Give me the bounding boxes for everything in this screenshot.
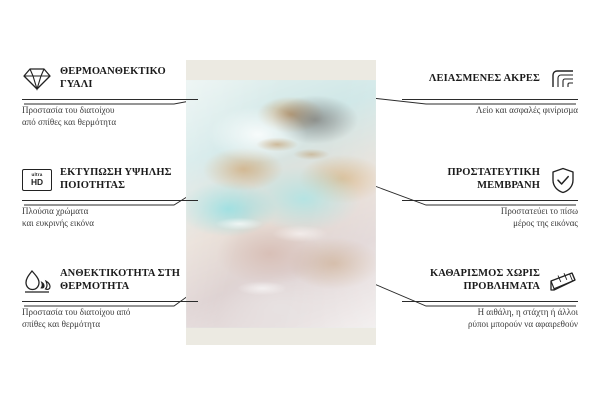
product-bottom-band bbox=[186, 328, 376, 345]
divider bbox=[402, 200, 578, 201]
feature-header: ΚΑΘΑΡΙΣΜΟΣ ΧΩΡΙΣ ΠΡΟΒΛΗΜΑΤΑ bbox=[402, 266, 578, 296]
hd-main-label: HD bbox=[31, 178, 43, 186]
sponge-icon bbox=[548, 266, 578, 296]
divider bbox=[22, 301, 198, 302]
feature-header: ΛΕΙΑΣΜΕΝΕΣ ΑΚΡΕΣ bbox=[402, 64, 578, 94]
feature-title: ΛΕΙΑΣΜΕΝΕΣ ΑΚΡΕΣ bbox=[402, 73, 540, 86]
feature-heat-resistance: ΑΝΘΕΚΤΙΚΟΤΗΤΑ ΣΤΗ ΘΕΡΜΟΤΗΤΑ Προστασία το… bbox=[22, 266, 198, 330]
feature-header: ultra HD ΕΚΤΥΠΩΣΗ ΥΨΗΛΗΣ ΠΟΙΟΤΗΤΑΣ bbox=[22, 165, 198, 195]
product-top-band bbox=[186, 60, 376, 80]
feature-title: ΑΝΘΕΚΤΙΚΟΤΗΤΑ ΣΤΗ ΘΕΡΜΟΤΗΤΑ bbox=[60, 268, 198, 294]
feature-desc-line1: Η αιθάλη, η στάχτη ή άλλοι bbox=[402, 306, 578, 318]
feature-smooth-edges: ΛΕΙΑΣΜΕΝΕΣ ΑΚΡΕΣ Λείο και ασφαλές φινίρι… bbox=[402, 64, 578, 116]
drop-heat-icon bbox=[22, 266, 52, 296]
feature-desc-line2: από σπίθες και θερμότητα bbox=[22, 116, 198, 128]
feature-desc-line1: Προστατεύει το πίσω bbox=[402, 205, 578, 217]
feature-desc-line1: Λείο και ασφαλές φινίρισμα bbox=[402, 104, 578, 116]
feature-thermal-glass: ΘΕΡΜΟΑΝΘΕΚΤΙΚΟ ΓΥΑΛΙ Προστασία του διατο… bbox=[22, 64, 198, 128]
divider bbox=[402, 99, 578, 100]
divider bbox=[22, 99, 198, 100]
divider bbox=[22, 200, 198, 201]
product-image bbox=[186, 60, 376, 345]
feature-desc-line2: σπίθες και θερμότητα bbox=[22, 318, 198, 330]
feature-desc-line2: και ευκρινής εικόνα bbox=[22, 217, 198, 229]
feature-desc-line2: μέρος της εικόνας bbox=[402, 217, 578, 229]
feature-title: ΚΑΘΑΡΙΣΜΟΣ ΧΩΡΙΣ ΠΡΟΒΛΗΜΑΤΑ bbox=[402, 268, 540, 294]
glass-sheen bbox=[186, 80, 376, 328]
feature-desc-line1: Προστασία του διατοίχου από bbox=[22, 306, 198, 318]
feature-header: ΠΡΟΣΤΑΤΕΥΤΙΚΗ ΜΕΜΒΡΑΝΗ bbox=[402, 165, 578, 195]
infographic-stage: ΘΕΡΜΟΑΝΘΕΚΤΙΚΟ ΓΥΑΛΙ Προστασία του διατο… bbox=[0, 0, 600, 400]
divider bbox=[402, 301, 578, 302]
feature-high-quality-print: ultra HD ΕΚΤΥΠΩΣΗ ΥΨΗΛΗΣ ΠΟΙΟΤΗΤΑΣ Πλούσ… bbox=[22, 165, 198, 229]
feature-title: ΠΡΟΣΤΑΤΕΥΤΙΚΗ ΜΕΜΒΡΑΝΗ bbox=[402, 167, 540, 193]
feature-title: ΕΚΤΥΠΩΣΗ ΥΨΗΛΗΣ ΠΟΙΟΤΗΤΑΣ bbox=[60, 167, 198, 193]
feature-header: ΑΝΘΕΚΤΙΚΟΤΗΤΑ ΣΤΗ ΘΕΡΜΟΤΗΤΑ bbox=[22, 266, 198, 296]
feature-easy-cleaning: ΚΑΘΑΡΙΣΜΟΣ ΧΩΡΙΣ ΠΡΟΒΛΗΜΑΤΑ Η αιθάλη, η … bbox=[402, 266, 578, 330]
feature-protective-membrane: ΠΡΟΣΤΑΤΕΥΤΙΚΗ ΜΕΜΒΡΑΝΗ Προστατεύει το πί… bbox=[402, 165, 578, 229]
feature-desc-line1: Προστασία του διατοίχου bbox=[22, 104, 198, 116]
feature-header: ΘΕΡΜΟΑΝΘΕΚΤΙΚΟ ΓΥΑΛΙ bbox=[22, 64, 198, 94]
feature-title: ΘΕΡΜΟΑΝΘΕΚΤΙΚΟ ΓΥΑΛΙ bbox=[60, 66, 198, 92]
diamond-icon bbox=[22, 64, 52, 94]
feature-desc-line2: ρύποι μπορούν να αφαιρεθούν bbox=[402, 318, 578, 330]
shield-icon bbox=[548, 165, 578, 195]
feature-desc-line1: Πλούσια χρώματα bbox=[22, 205, 198, 217]
ultra-hd-icon: ultra HD bbox=[22, 165, 52, 195]
edges-icon bbox=[548, 64, 578, 94]
marble-artwork bbox=[186, 80, 376, 328]
